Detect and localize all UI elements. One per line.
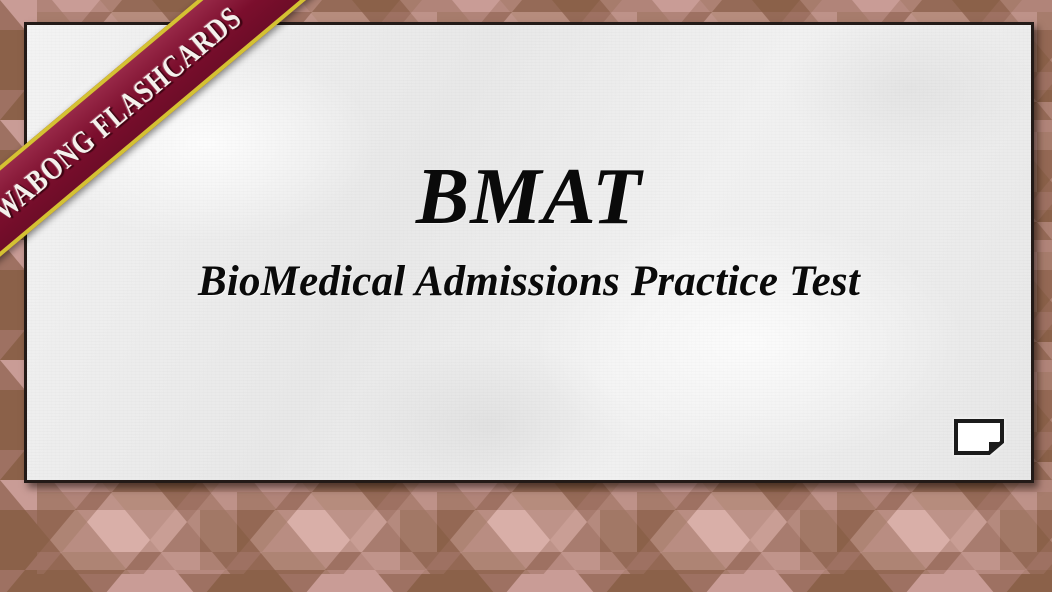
page-subtitle: BioMedical Admissions Practice Test [198, 259, 860, 304]
flashcard-screen: BMAT BioMedical Admissions Practice Test… [0, 0, 1052, 592]
flashcard-icon[interactable] [953, 418, 1005, 456]
page-title: BMAT [416, 157, 642, 237]
